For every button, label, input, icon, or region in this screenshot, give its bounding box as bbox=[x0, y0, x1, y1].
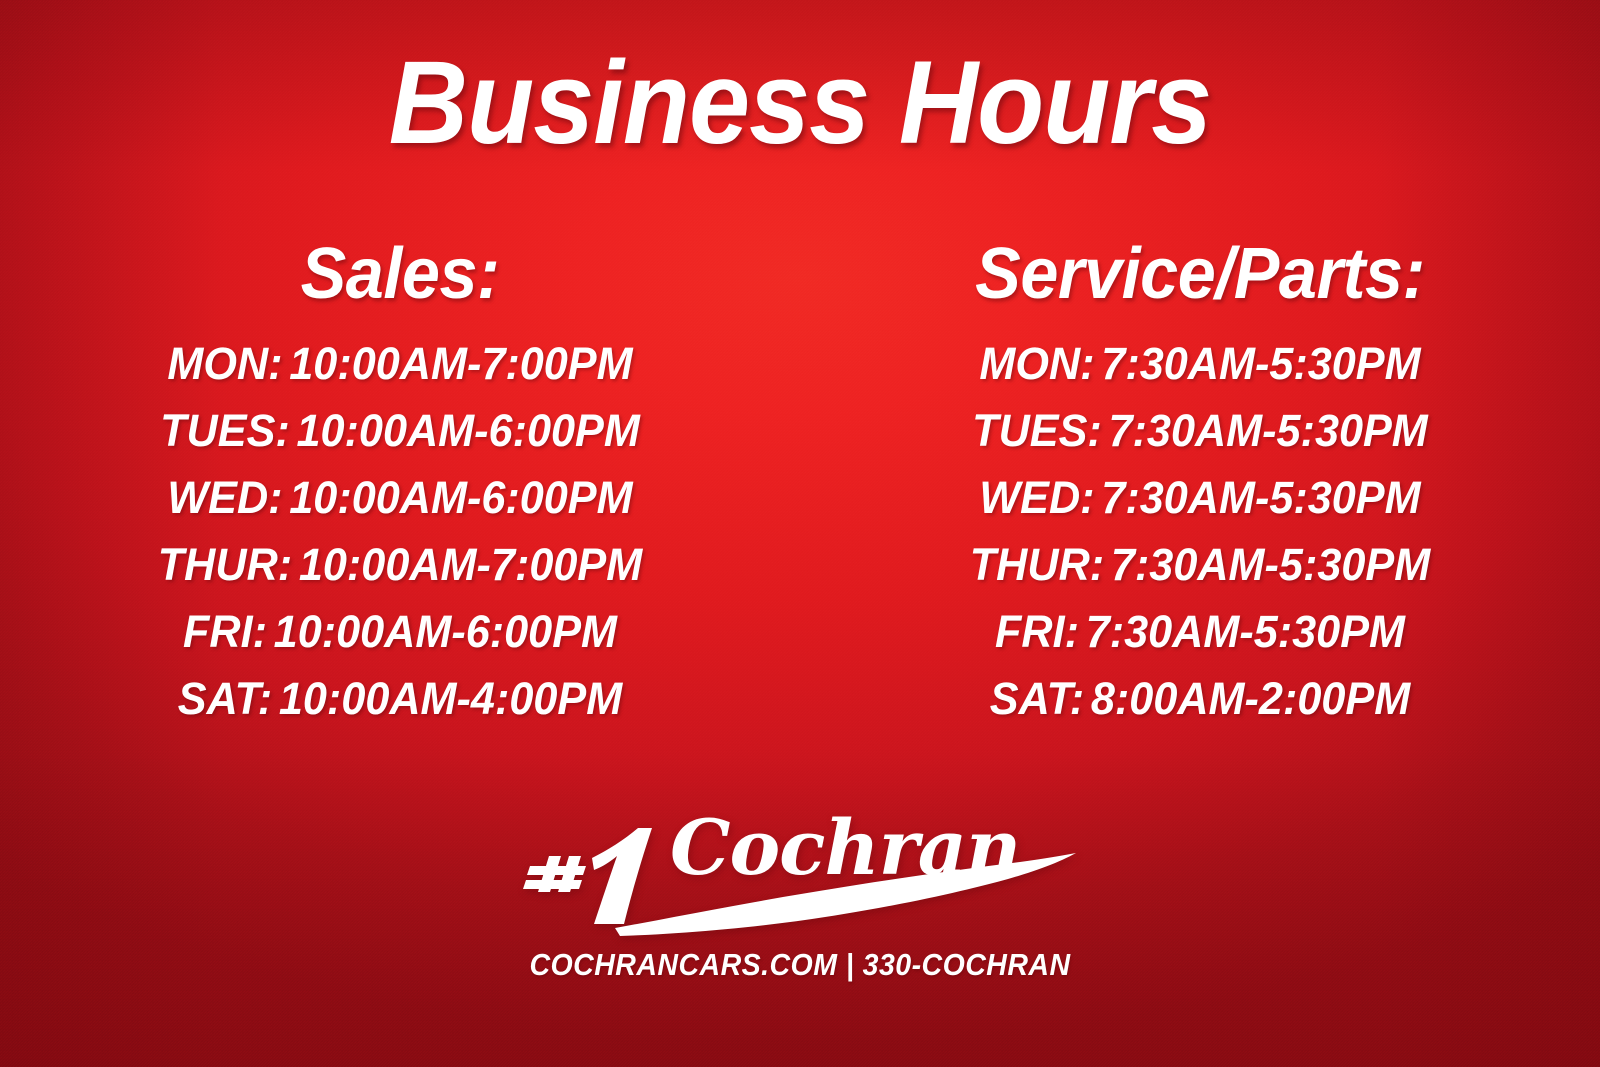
day-label: FRI: bbox=[995, 606, 1079, 657]
hours-value: 7:30AM-5:30PM bbox=[1086, 606, 1405, 657]
brand-logo: Cochran COCHRANCARS.COM | 330-COCHRAN bbox=[0, 800, 1600, 983]
day-label: WED: bbox=[167, 472, 282, 523]
hours-row: THUR:7:30AM-5:30PM bbox=[816, 531, 1584, 598]
hours-row: WED:10:00AM-6:00PM bbox=[16, 464, 784, 531]
hours-value: 10:00AM-6:00PM bbox=[296, 405, 639, 456]
day-label: SAT: bbox=[990, 673, 1084, 724]
service-parts-column: Service/Parts: MON:7:30AM-5:30PM TUES:7:… bbox=[800, 236, 1600, 732]
sales-column: Sales: MON:10:00AM-7:00PM TUES:10:00AM-6… bbox=[0, 236, 800, 732]
hours-value: 7:30AM-5:30PM bbox=[1111, 539, 1430, 590]
hours-row: WED:7:30AM-5:30PM bbox=[816, 464, 1584, 531]
poster-content: Business Hours Sales: MON:10:00AM-7:00PM… bbox=[0, 0, 1600, 1067]
business-hours-poster: Business Hours Sales: MON:10:00AM-7:00PM… bbox=[0, 0, 1600, 1067]
day-label: WED: bbox=[979, 472, 1094, 523]
hours-value: 7:30AM-5:30PM bbox=[1101, 472, 1420, 523]
hours-row: SAT:10:00AM-4:00PM bbox=[16, 665, 784, 732]
sales-column-heading: Sales: bbox=[20, 236, 780, 312]
service-parts-column-heading: Service/Parts: bbox=[820, 236, 1580, 312]
day-label: THUR: bbox=[158, 539, 292, 590]
sales-hours-list: MON:10:00AM-7:00PM TUES:10:00AM-6:00PM W… bbox=[0, 330, 800, 732]
page-title: Business Hours bbox=[56, 44, 1544, 162]
logo-tagline: COCHRANCARS.COM | 330-COCHRAN bbox=[64, 947, 1536, 983]
hours-row: TUES:7:30AM-5:30PM bbox=[816, 397, 1584, 464]
hours-value: 10:00AM-7:00PM bbox=[289, 338, 632, 389]
day-label: FRI: bbox=[183, 606, 267, 657]
hours-row: FRI:10:00AM-6:00PM bbox=[16, 598, 784, 665]
hours-value: 10:00AM-7:00PM bbox=[299, 539, 642, 590]
day-label: TUES: bbox=[160, 405, 290, 456]
hours-columns: Sales: MON:10:00AM-7:00PM TUES:10:00AM-6… bbox=[0, 236, 1600, 732]
hours-row: TUES:10:00AM-6:00PM bbox=[16, 397, 784, 464]
hours-value: 10:00AM-6:00PM bbox=[274, 606, 617, 657]
hours-value: 8:00AM-2:00PM bbox=[1091, 673, 1410, 724]
hours-row: THUR:10:00AM-7:00PM bbox=[16, 531, 784, 598]
hours-value: 10:00AM-6:00PM bbox=[289, 472, 632, 523]
day-label: MON: bbox=[167, 338, 282, 389]
hours-row: MON:7:30AM-5:30PM bbox=[816, 330, 1584, 397]
hours-value: 7:30AM-5:30PM bbox=[1101, 338, 1420, 389]
hours-value: 10:00AM-4:00PM bbox=[279, 673, 622, 724]
day-label: MON: bbox=[979, 338, 1094, 389]
hours-row: FRI:7:30AM-5:30PM bbox=[816, 598, 1584, 665]
hours-row: MON:10:00AM-7:00PM bbox=[16, 330, 784, 397]
hours-row: SAT:8:00AM-2:00PM bbox=[816, 665, 1584, 732]
day-label: THUR: bbox=[970, 539, 1104, 590]
hours-value: 7:30AM-5:30PM bbox=[1109, 405, 1428, 456]
cochran-logo-icon: Cochran bbox=[520, 800, 1080, 940]
day-label: SAT: bbox=[178, 673, 272, 724]
service-parts-hours-list: MON:7:30AM-5:30PM TUES:7:30AM-5:30PM WED… bbox=[800, 330, 1600, 732]
day-label: TUES: bbox=[972, 405, 1102, 456]
